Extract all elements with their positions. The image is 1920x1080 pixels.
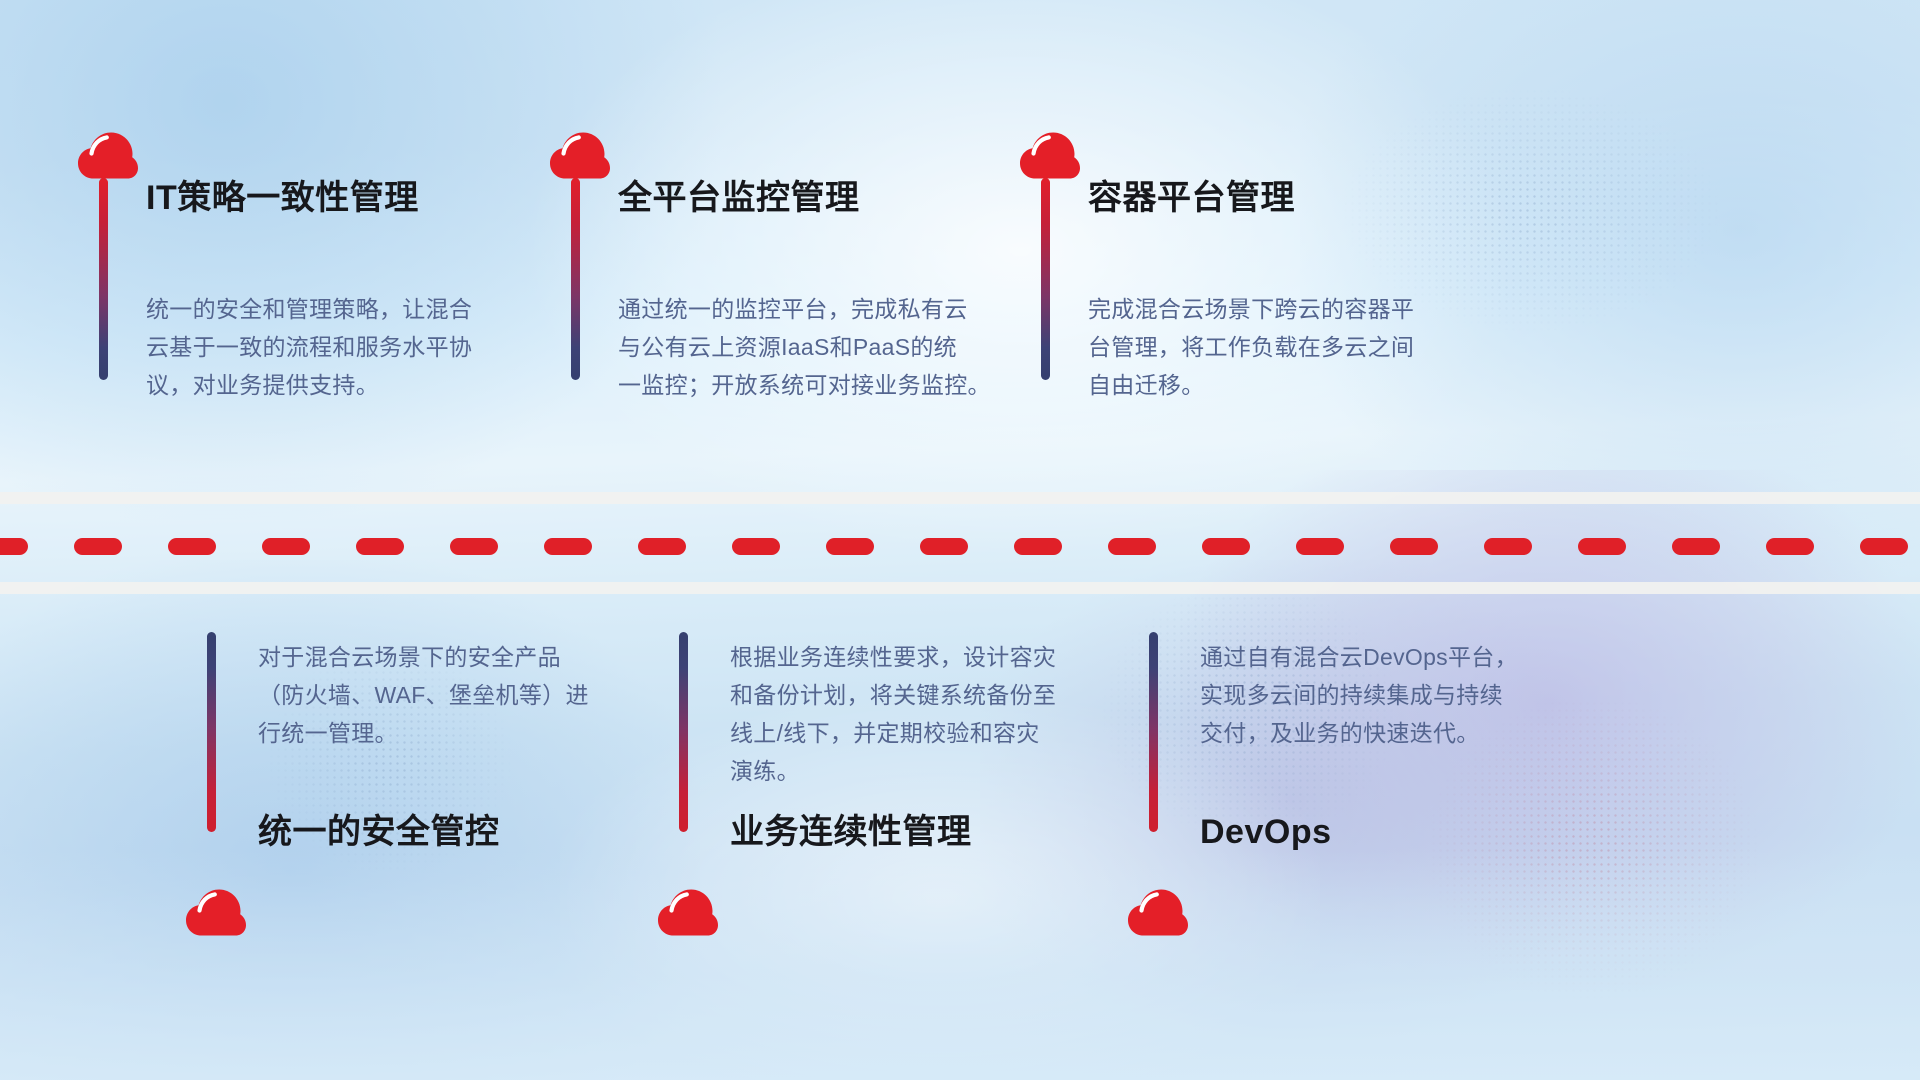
background-bottom-fade [0,850,1920,1080]
connector-stem [207,632,216,832]
feature-title: 容器平台管理 [1088,178,1295,219]
road-band-bottom [0,582,1920,594]
road-dash [544,538,592,555]
cloud-icon [549,131,611,179]
road-dash [1014,538,1062,555]
road-dash [1860,538,1908,555]
road-dash [1672,538,1720,555]
cloud-icon [657,888,719,936]
feature-title: 统一的安全管控 [258,812,500,853]
cloud-icon [77,131,139,179]
road-dash [1296,538,1344,555]
road-dash [1578,538,1626,555]
infographic-canvas: IT策略一致性管理 统一的安全和管理策略，让混合 云基于一致的流程和服务水平协 … [0,0,1920,1080]
connector-stem [99,178,108,380]
feature-description: 完成混合云场景下跨云的容器平 台管理，将工作负载在多云之间 自由迁移。 [1088,290,1458,404]
road-dash [1202,538,1250,555]
feature-description: 通过自有混合云DevOps平台， 实现多云间的持续集成与持续 交付，及业务的快速… [1200,638,1550,752]
feature-description: 通过统一的监控平台，完成私有云 与公有云上资源IaaS和PaaS的统 一监控；开… [618,290,1008,404]
cloud-icon [1127,888,1189,936]
connector-stem [1149,632,1158,832]
feature-title: 全平台监控管理 [618,178,860,219]
road-dash [1390,538,1438,555]
road-dash [732,538,780,555]
feature-title: IT策略一致性管理 [146,178,419,219]
feature-description: 统一的安全和管理策略，让混合 云基于一致的流程和服务水平协 议，对业务提供支持。 [146,290,516,404]
cloud-icon [185,888,247,936]
connector-stem [571,178,580,380]
road-dash [1766,538,1814,555]
road-dash [0,538,28,555]
feature-description: 根据业务连续性要求，设计容灾 和备份计划，将关键系统备份至 线上/线下，并定期校… [730,638,1080,790]
road-dash [920,538,968,555]
feature-description: 对于混合云场景下的安全产品 （防火墙、WAF、堡垒机等）进 行统一管理。 [258,638,608,752]
road-dash [826,538,874,555]
road-dash [450,538,498,555]
feature-title: 业务连续性管理 [730,812,972,853]
cloud-icon [1019,131,1081,179]
road-dash [262,538,310,555]
road-dash [74,538,122,555]
road-dash [356,538,404,555]
road-dash [1108,538,1156,555]
road-band-top [0,492,1920,504]
connector-stem [1041,178,1050,380]
road-dash [168,538,216,555]
feature-title: DevOps [1200,812,1332,853]
road-dash [638,538,686,555]
connector-stem [679,632,688,832]
road-dash [1484,538,1532,555]
